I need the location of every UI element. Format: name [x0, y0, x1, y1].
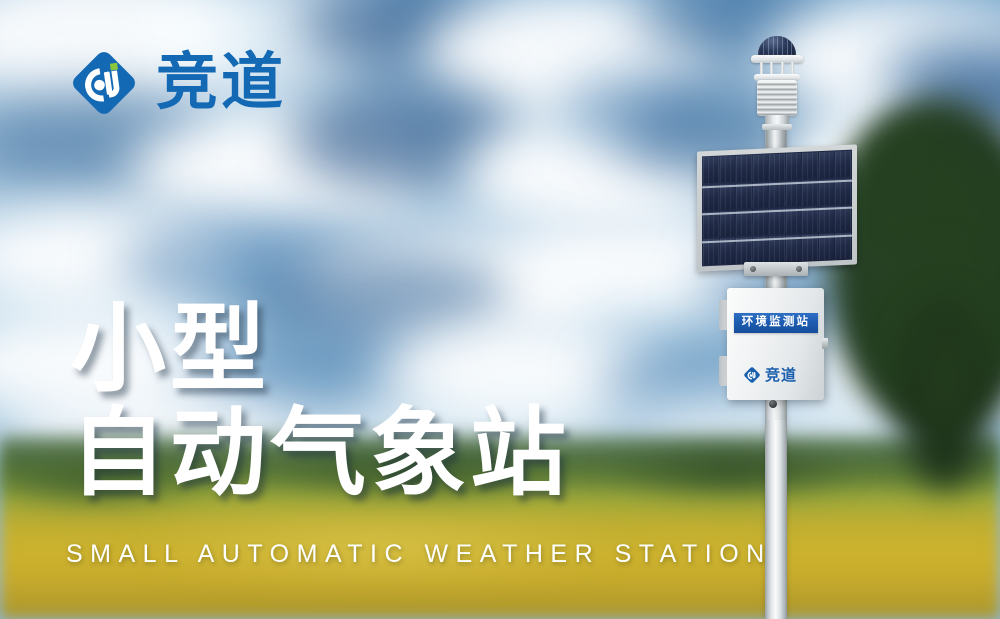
headline-line-1: 小型: [70, 298, 570, 402]
headline-line-2: 自动气象站: [70, 402, 570, 506]
jingdao-diamond-logo-icon: [66, 45, 142, 121]
weather-station-product-banner: 竞道 小型 自动气象站 SMALL AUTOMATIC WEATHER STAT…: [0, 0, 1000, 619]
page-subtitle: SMALL AUTOMATIC WEATHER STATION: [66, 540, 772, 569]
page-title: 小型 自动气象站: [70, 298, 570, 505]
brand-name: 竞道: [156, 52, 286, 114]
shrub-right-icon: [600, 440, 860, 502]
brand-logo[interactable]: 竞道: [66, 45, 286, 121]
